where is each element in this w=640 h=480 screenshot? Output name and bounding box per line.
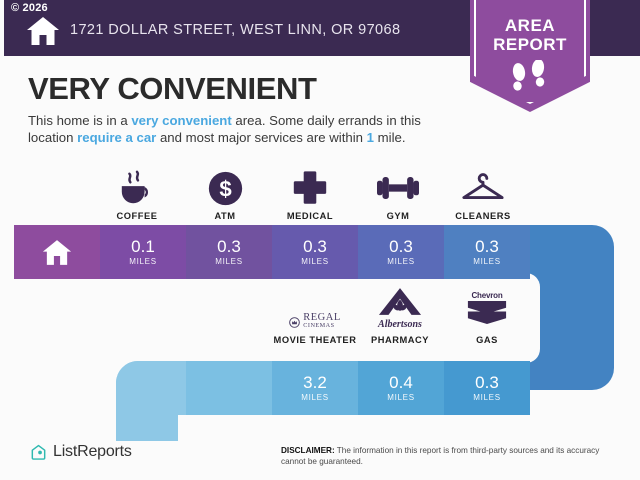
hanger-icon	[440, 168, 526, 208]
distance-segment-gas: 0.3 MILES	[444, 361, 530, 415]
property-address: 1721 DOLLAR STREET, WEST LINN, OR 97068	[70, 22, 400, 38]
amenity-label: MOVIE THEATER	[270, 335, 360, 345]
amenity-gym: GYM	[355, 168, 441, 221]
page-subtitle: This home is in a very convenient area. …	[28, 113, 448, 146]
distance-segment-blank-2	[116, 361, 186, 415]
medical-cross-icon	[267, 168, 353, 208]
disclaimer: DISCLAIMER: The information in this repo…	[281, 446, 611, 467]
amenity-label: CLEANERS	[440, 211, 526, 221]
chevron-brand-text: Chevron	[466, 291, 508, 300]
distance-segment-pharmacy: 0.4 MILES	[358, 361, 444, 415]
chevron-stripes-icon	[466, 300, 508, 325]
distance-value: 0.1	[131, 238, 155, 255]
distance-segment-medical: 0.3 MILES	[272, 225, 358, 279]
amenity-label: MEDICAL	[267, 211, 353, 221]
subtitle-highlight-3: 1	[367, 130, 374, 145]
distance-unit: MILES	[473, 257, 501, 266]
listreports-logo-text: ListReports	[53, 443, 132, 461]
chevron-logo: Chevron	[442, 288, 532, 332]
dollar-circle-icon: $	[182, 168, 268, 208]
amenity-medical: MEDICAL	[267, 168, 353, 221]
amenity-label: GYM	[355, 211, 441, 221]
amenity-atm: $ ATM	[182, 168, 268, 221]
distance-segment-atm: 0.3 MILES	[186, 225, 272, 279]
regal-cinemas-logo: REGAL CINEMAS	[270, 288, 360, 332]
footprints-icon	[505, 60, 555, 94]
distance-value: 3.2	[303, 374, 327, 391]
coffee-cup-icon	[94, 168, 180, 208]
distance-unit: MILES	[387, 393, 415, 402]
amenity-coffee: COFFEE	[94, 168, 180, 221]
distance-value: 0.4	[389, 374, 413, 391]
amenity-pharmacy: Albertsons PHARMACY	[355, 288, 445, 345]
distance-segment-movie-theater: 3.2 MILES	[272, 361, 358, 415]
amenity-label: GAS	[442, 335, 532, 345]
amenity-cleaners: CLEANERS	[440, 168, 526, 221]
amenity-label: PHARMACY	[355, 335, 445, 345]
distance-unit: MILES	[301, 257, 329, 266]
ribbon-home-segment	[14, 225, 100, 279]
distance-unit: MILES	[215, 257, 243, 266]
distance-unit: MILES	[473, 393, 501, 402]
banner-line-1: AREA	[505, 16, 555, 35]
distance-value: 0.3	[475, 374, 499, 391]
amenity-gas: Chevron GAS	[442, 288, 532, 345]
albertsons-a-icon	[378, 287, 422, 316]
distance-unit: MILES	[301, 393, 329, 402]
subtitle-highlight-1: very convenient	[131, 113, 231, 128]
amenity-icon-row-1: COFFEE $ ATM MEDICAL	[0, 168, 640, 224]
disclaimer-label: DISCLAIMER:	[281, 446, 335, 455]
home-icon	[26, 16, 60, 46]
distance-segment-gym: 0.3 MILES	[358, 225, 444, 279]
copyright-label: © 2026	[11, 2, 48, 14]
distance-value: 0.3	[475, 238, 499, 255]
distance-segment-coffee: 0.1 MILES	[100, 225, 186, 279]
regal-brand-line-1: REGAL	[303, 314, 341, 322]
distance-unit: MILES	[387, 257, 415, 266]
dumbbell-icon	[355, 168, 441, 208]
home-icon	[42, 239, 72, 266]
subtitle-part-3: and most major services are within	[156, 130, 366, 145]
svg-text:$: $	[219, 176, 232, 201]
banner-line-2: REPORT	[493, 35, 567, 54]
listreports-logo[interactable]: ListReports	[30, 443, 132, 461]
distance-segment-cleaners: 0.3 MILES	[444, 225, 530, 279]
listreports-house-icon	[30, 444, 47, 461]
page-title: VERY CONVENIENT	[28, 71, 317, 107]
albertsons-logo: Albertsons	[355, 288, 445, 332]
amenity-label: COFFEE	[94, 211, 180, 221]
amenity-icon-row-2: REGAL CINEMAS MOVIE THEATER Albertsons	[0, 288, 640, 350]
distance-unit: MILES	[129, 257, 157, 266]
regal-crown-icon	[289, 317, 300, 328]
subtitle-part-4: mile.	[374, 130, 406, 145]
subtitle-highlight-2: require a car	[77, 130, 156, 145]
area-report-title: AREA REPORT	[470, 16, 590, 54]
distance-value: 0.3	[217, 238, 241, 255]
albertsons-brand-text: Albertsons	[378, 319, 422, 330]
amenity-movie-theater: REGAL CINEMAS MOVIE THEATER	[270, 288, 360, 345]
area-report-page: © 2026 1721 DOLLAR STREET, WEST LINN, OR…	[0, 0, 640, 480]
amenity-label: ATM	[182, 211, 268, 221]
distance-value: 0.3	[303, 238, 327, 255]
regal-brand-line-2: CINEMAS	[303, 322, 341, 330]
distance-value: 0.3	[389, 238, 413, 255]
distance-segment-blank-1	[186, 361, 272, 415]
subtitle-part-1: This home is in a	[28, 113, 131, 128]
